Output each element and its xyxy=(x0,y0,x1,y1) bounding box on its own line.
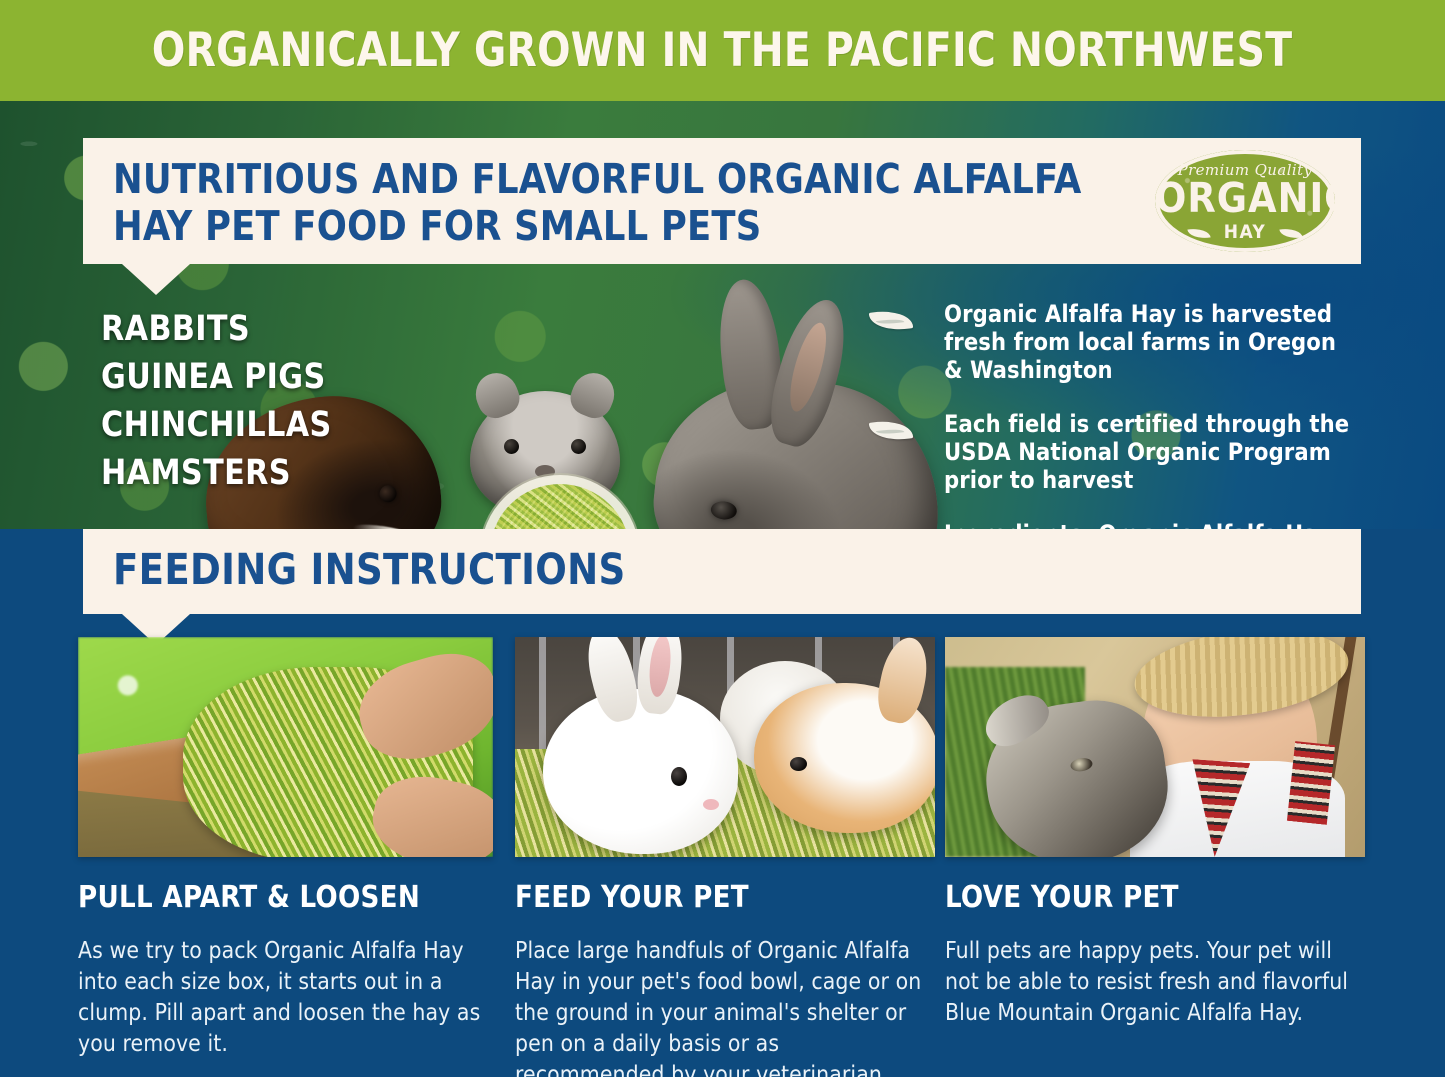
feeding-instructions-heading: FEEDING INSTRUCTIONS xyxy=(113,546,626,594)
organic-hay-badge: Premium Quality ORGANIC HAY xyxy=(1155,150,1335,252)
pet-list-item: GUINEA PIGS xyxy=(101,353,379,401)
step-photo-hands-pulling-hay xyxy=(78,637,493,857)
cage-bar xyxy=(539,637,546,752)
title-panel: NUTRITIOUS AND FLAVORFUL ORGANIC ALFALFA… xyxy=(83,138,1361,264)
pet-list-item: HAMSTERS xyxy=(101,449,379,497)
step-photo-bunnies-eating-hay xyxy=(515,637,935,857)
leaf-bullet-icon xyxy=(869,307,914,334)
feeding-instructions-panel: FEEDING INSTRUCTIONS xyxy=(83,529,1361,614)
step-photo-boy-with-goat xyxy=(945,637,1365,857)
bunny-white-ear-right xyxy=(634,637,686,716)
feeding-step-love-your-pet: LOVE YOUR PET Full pets are happy pets. … xyxy=(945,637,1365,1029)
step-body: Full pets are happy pets. Your pet will … xyxy=(945,936,1361,1029)
badge-organic-text: ORGANIC xyxy=(1155,176,1335,220)
feeding-step-pull-apart: PULL APART & LOOSEN As we try to pack Or… xyxy=(78,637,493,1060)
feature-bullet-text: Organic Alfalfa Hay is harvested fresh f… xyxy=(944,300,1361,384)
top-banner: ORGANICALLY GROWN IN THE PACIFIC NORTHWE… xyxy=(0,0,1445,101)
chinchilla-eye-right xyxy=(571,439,586,454)
badge-hay-text: HAY xyxy=(1155,221,1335,243)
page-title: NUTRITIOUS AND FLAVORFUL ORGANIC ALFALFA… xyxy=(113,156,1092,250)
goat-eye xyxy=(1070,757,1094,773)
step-title: LOVE YOUR PET xyxy=(945,880,1352,915)
bunny-white-eye xyxy=(671,767,687,786)
chinchilla-eye-left xyxy=(504,439,519,454)
feature-bullet-text: Each field is certified through the USDA… xyxy=(944,410,1361,494)
feeding-step-feed-your-pet: FEED YOUR PET Place large handfuls of Or… xyxy=(515,637,935,1077)
rabbit-eye xyxy=(710,500,738,521)
leaf-bullet-icon xyxy=(869,417,914,444)
boy-collar-trim xyxy=(1287,741,1335,825)
feature-bullet: Each field is certified through the USDA… xyxy=(870,410,1370,494)
infographic-page: ORGANICALLY GROWN IN THE PACIFIC NORTHWE… xyxy=(0,0,1445,1077)
guinea-pig-stripe xyxy=(351,520,427,529)
step-body: As we try to pack Organic Alfalfa Hay in… xyxy=(78,936,489,1060)
bunny-white-nose xyxy=(703,799,719,810)
bunny-tan xyxy=(754,683,935,833)
step-title: FEED YOUR PET xyxy=(515,880,922,915)
pet-type-list: RABBITS GUINEA PIGS CHINCHILLAS HAMSTERS xyxy=(101,305,391,497)
bunny-white xyxy=(543,689,738,854)
pet-list-item: RABBITS xyxy=(101,305,379,353)
chinchilla-nose xyxy=(535,465,555,478)
step-body: Place large handfuls of Organic Alfalfa … xyxy=(515,936,931,1077)
title-panel-notch xyxy=(122,264,190,295)
bunny-tan-eye xyxy=(790,757,807,771)
step-title: PULL APART & LOOSEN xyxy=(78,880,481,915)
pet-list-item: CHINCHILLAS xyxy=(101,401,379,449)
feature-bullet: Organic Alfalfa Hay is harvested fresh f… xyxy=(870,300,1370,384)
top-banner-headline: ORGANICALLY GROWN IN THE PACIFIC NORTHWE… xyxy=(152,23,1292,78)
